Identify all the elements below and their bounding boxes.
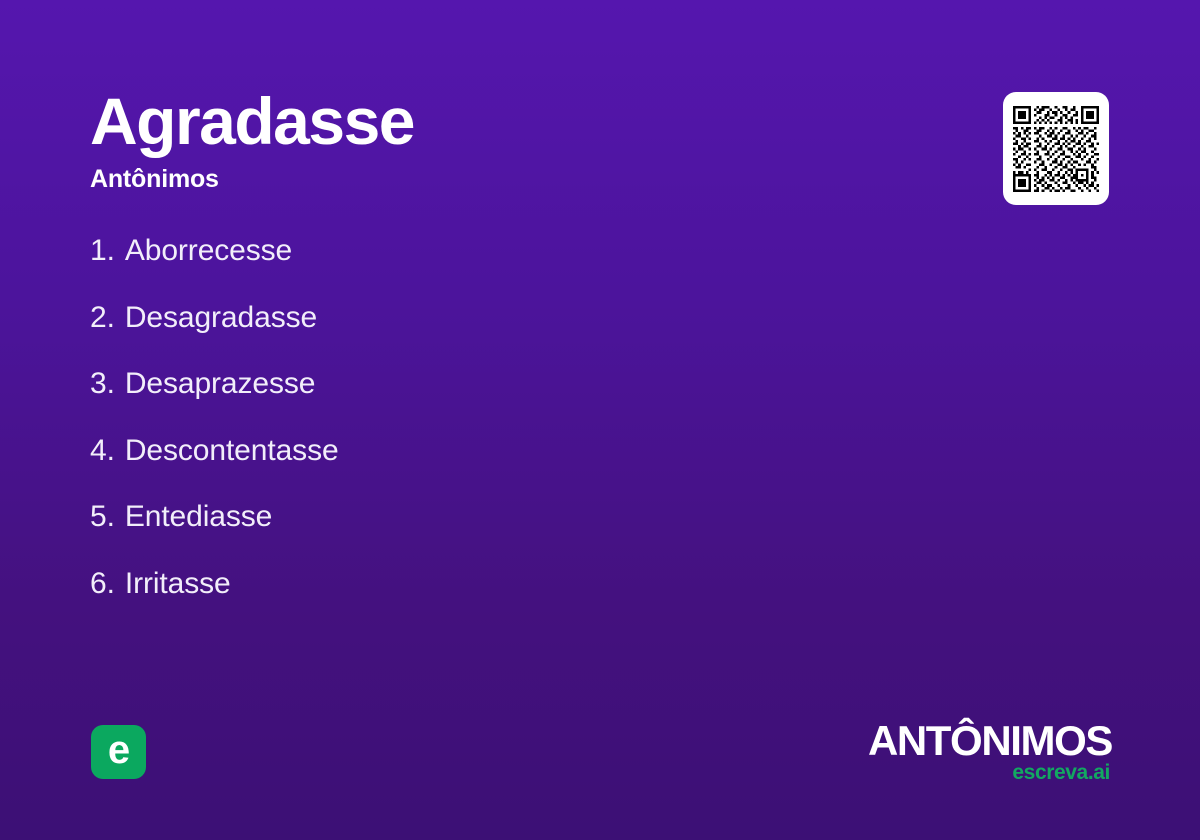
list-item-word: Irritasse <box>125 569 231 599</box>
page-title: Agradasse <box>90 88 850 154</box>
antonyms-card: Agradasse Antônimos <box>0 0 1200 840</box>
list-item-index: 6. <box>90 569 115 599</box>
qr-code-panel[interactable] <box>1003 92 1109 205</box>
list-item-index: 2. <box>90 303 115 333</box>
list-item-word: Aborrecesse <box>125 236 292 266</box>
list-item: 1. Aborrecesse <box>90 236 890 303</box>
list-item: 4. Descontentasse <box>90 436 890 503</box>
qr-code-icon <box>1013 106 1099 192</box>
antonimos-wordmark: ANTÔNIMOS escreva.ai <box>868 722 1112 783</box>
wordmark-domain: escreva.ai <box>868 762 1110 783</box>
list-item-word: Descontentasse <box>125 436 339 466</box>
list-item: 2. Desagradasse <box>90 303 890 370</box>
escreva-logo-badge: e <box>91 725 146 779</box>
list-item: 5. Entediasse <box>90 502 890 569</box>
card-header: Agradasse Antônimos <box>90 88 850 192</box>
list-item: 3. Desaprazesse <box>90 369 890 436</box>
list-item: 6. Irritasse <box>90 569 890 636</box>
antonyms-list: 1. Aborrecesse 2. Desagradasse 3. Desapr… <box>90 236 890 635</box>
list-item-index: 5. <box>90 502 115 532</box>
list-item-word: Desaprazesse <box>125 369 316 399</box>
wordmark-primary: ANTÔNIMOS <box>868 722 1112 761</box>
category-label: Antônimos <box>90 167 850 192</box>
list-item-word: Entediasse <box>125 502 272 532</box>
list-item-word: Desagradasse <box>125 303 317 333</box>
brand-badge-letter: e <box>108 730 129 770</box>
list-item-index: 3. <box>90 369 115 399</box>
list-item-index: 4. <box>90 436 115 466</box>
list-item-index: 1. <box>90 236 115 266</box>
